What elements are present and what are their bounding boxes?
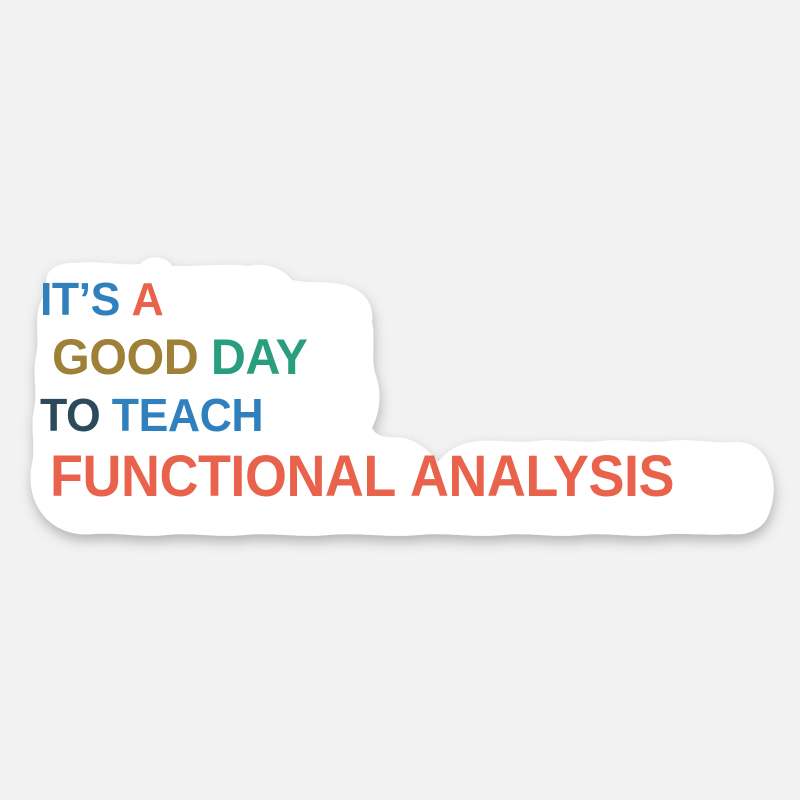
word-good: GOOD [52,332,198,382]
sticker-line-1: IT’SA [40,276,163,322]
sticker-text-block: IT’SA GOODDAY TOTEACH FUNCTIONALANALYSIS [40,276,770,516]
word-day: DAY [211,332,307,382]
word-analysis: ANALYSIS [410,448,674,506]
sticker-line-3: TOTEACH [40,392,263,438]
sticker-canvas: IT’SA GOODDAY TOTEACH FUNCTIONALANALYSIS [0,0,800,800]
word-to: TO [40,392,100,438]
sticker-line-2: GOODDAY [52,332,307,382]
sticker-line-4: FUNCTIONALANALYSIS [50,448,674,506]
word-functional: FUNCTIONAL [50,448,396,506]
word-teach: TEACH [112,392,263,438]
word-a: A [131,276,163,322]
word-its: IT’S [40,276,120,322]
